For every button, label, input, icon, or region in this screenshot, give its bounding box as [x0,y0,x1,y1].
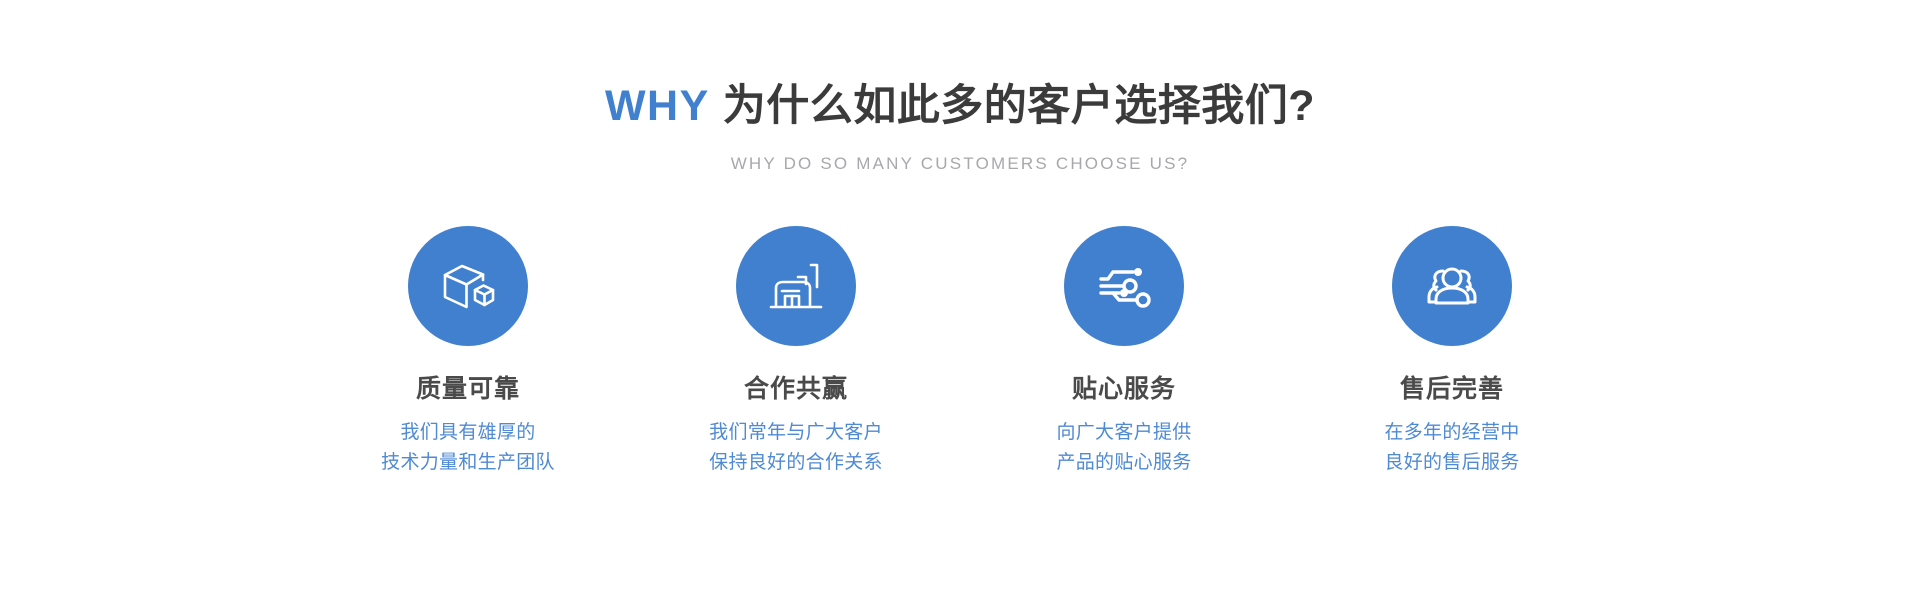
title-main-text: 为什么如此多的客户选择我们? [723,82,1315,130]
factory-building-icon [765,255,827,317]
icon-circle-service[interactable] [1064,226,1184,346]
feature-card-cooperation[interactable]: 合作共赢 我们常年与广大客户 保持良好的合作关系 [632,226,960,477]
package-box-icon [437,255,499,317]
card-description-line-1: 我们常年与广大客户 [709,418,883,447]
card-description: 向广大客户提供 产品的贴心服务 [1056,418,1191,477]
card-description-line-1: 我们具有雄厚的 [381,418,555,447]
icon-circle-quality[interactable] [408,226,528,346]
card-title: 贴心服务 [1072,374,1176,404]
card-description-line-1: 在多年的经营中 [1384,418,1519,447]
why-choose-us-section: WHY为什么如此多的客户选择我们? WHY DO SO MANY CUSTOME… [0,0,1920,615]
card-title: 售后完善 [1400,374,1504,404]
feature-card-quality[interactable]: 质量可靠 我们具有雄厚的 技术力量和生产团队 [304,226,632,477]
page-subtitle: WHY DO SO MANY CUSTOMERS CHOOSE US? [0,154,1920,174]
card-description: 在多年的经营中 良好的售后服务 [1384,418,1519,477]
card-title: 合作共赢 [744,374,848,404]
icon-circle-aftersales[interactable] [1392,226,1512,346]
card-description-line-2: 产品的贴心服务 [1056,448,1191,477]
card-description-line-1: 向广大客户提供 [1056,418,1191,447]
circuit-network-icon [1093,255,1155,317]
heading-block: WHY为什么如此多的客户选择我们? WHY DO SO MANY CUSTOME… [0,82,1920,174]
card-description-line-2: 保持良好的合作关系 [709,448,883,477]
feature-cards-row: 质量可靠 我们具有雄厚的 技术力量和生产团队 [230,226,1690,477]
feature-card-aftersales[interactable]: 售后完善 在多年的经营中 良好的售后服务 [1288,226,1616,477]
feature-card-service[interactable]: 贴心服务 向广大客户提供 产品的贴心服务 [960,226,1288,477]
card-description-line-2: 技术力量和生产团队 [381,448,555,477]
card-title: 质量可靠 [416,374,520,404]
icon-circle-cooperation[interactable] [736,226,856,346]
card-description-line-2: 良好的售后服务 [1384,448,1519,477]
card-description: 我们常年与广大客户 保持良好的合作关系 [709,418,883,477]
users-team-icon [1421,255,1483,317]
title-prefix-why: WHY [605,82,710,130]
card-description: 我们具有雄厚的 技术力量和生产团队 [381,418,555,477]
page-title: WHY为什么如此多的客户选择我们? [0,82,1920,131]
